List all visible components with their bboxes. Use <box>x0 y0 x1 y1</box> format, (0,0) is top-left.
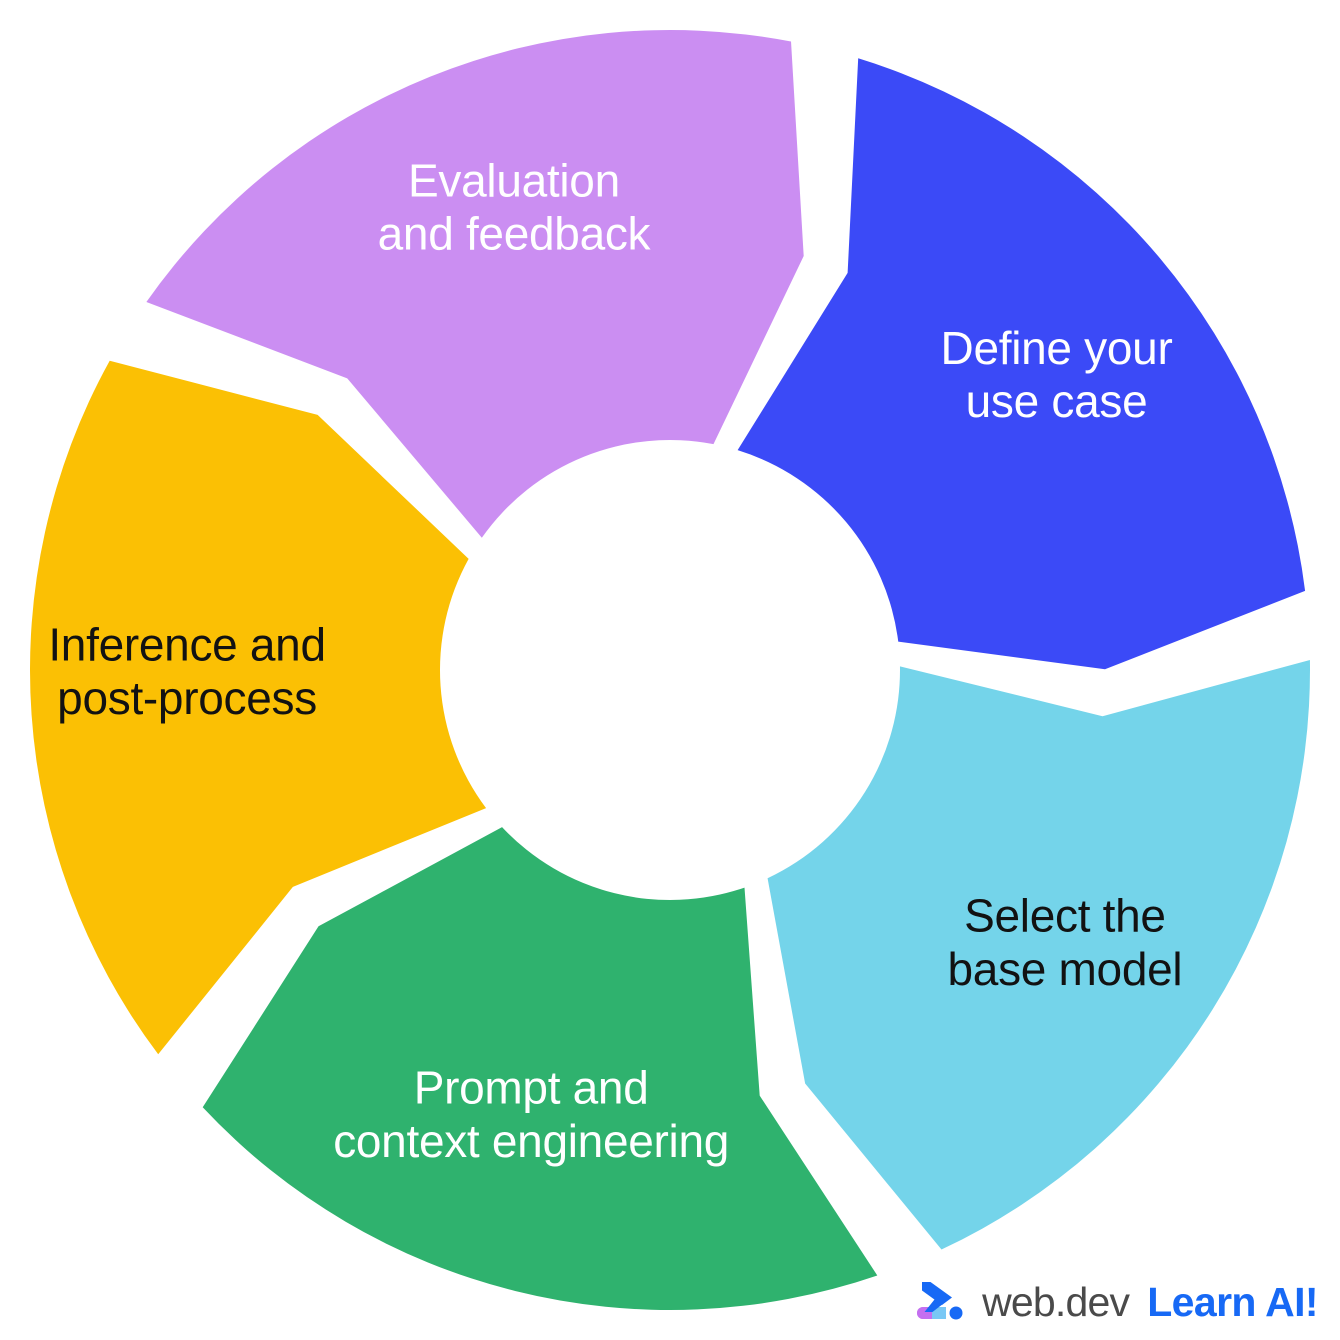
segment-label-line2: and feedback <box>378 208 652 260</box>
brand-product-name: Learn AI! <box>1147 1282 1318 1323</box>
brand-wordmark: web.dev <box>982 1282 1129 1323</box>
brand-lockup: web.dev Learn AI! <box>916 1274 1318 1330</box>
segment-label-line2: post-process <box>57 672 317 724</box>
segment-label-select-base-model: Select thebase model <box>948 890 1183 995</box>
segment-label-line1: Inference and <box>48 619 325 671</box>
segment-label-line1: Define your <box>941 322 1173 374</box>
segment-label-evaluation-and-feedback: Evaluationand feedback <box>378 155 652 260</box>
segment-label-line2: use case <box>966 375 1148 427</box>
segment-label-line1: Evaluation <box>408 155 620 207</box>
segment-label-line1: Select the <box>964 890 1166 942</box>
segment-label-define-use-case: Define youruse case <box>941 322 1173 427</box>
workflow-cycle-diagram: Define youruse caseSelect thebase modelP… <box>0 0 1340 1340</box>
cycle-donut-chart: Define youruse caseSelect thebase modelP… <box>0 0 1340 1340</box>
segment-label-line2: base model <box>948 943 1183 995</box>
segment-label-line1: Prompt and <box>414 1062 649 1114</box>
segment-label-line2: context engineering <box>333 1115 729 1167</box>
webdev-chevron-logo-icon <box>916 1279 968 1325</box>
segment-label-inference-post-process: Inference andpost-process <box>48 619 325 724</box>
